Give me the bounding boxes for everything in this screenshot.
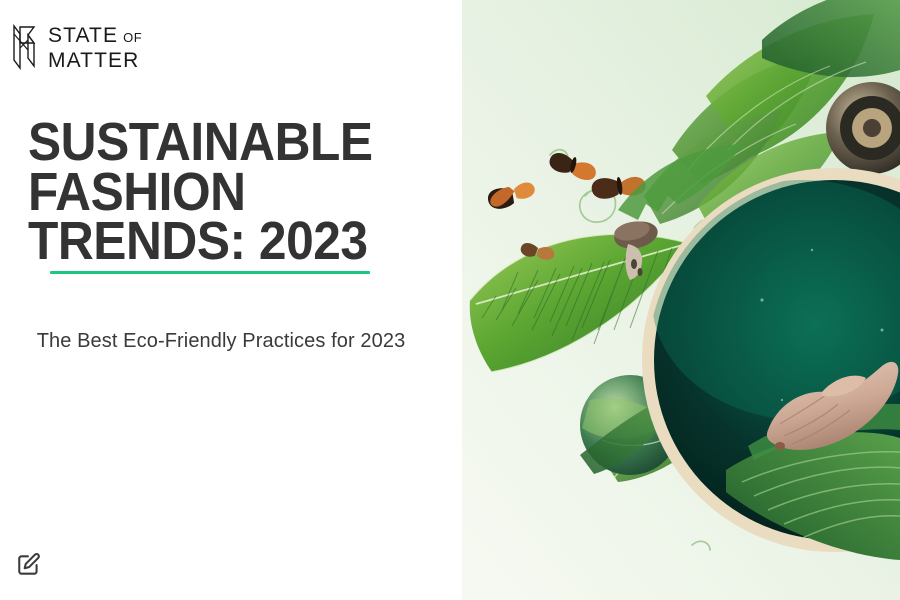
accent-divider — [50, 271, 370, 274]
brand-word-state: STATE — [48, 25, 118, 46]
state-of-matter-monogram-icon — [8, 22, 40, 74]
edit-button[interactable] — [14, 550, 44, 580]
brand-word-of: OF — [123, 31, 142, 44]
headline-line-2: FASHION — [28, 168, 396, 218]
content-panel: STATE OF MATTER SUSTAINABLE FASHION TREN… — [0, 0, 462, 600]
page-subtitle: The Best Eco-Friendly Practices for 2023 — [18, 326, 424, 357]
edit-pencil-square-icon — [16, 552, 42, 578]
hero-artwork — [462, 0, 900, 600]
brand-wordmark: STATE OF MATTER — [48, 25, 142, 71]
page-title: SUSTAINABLE FASHION TRENDS: 2023 — [28, 118, 428, 267]
headline-line-1: SUSTAINABLE — [28, 118, 396, 168]
poster-canvas: STATE OF MATTER SUSTAINABLE FASHION TREN… — [0, 0, 900, 600]
eco-collage-illustration — [462, 0, 900, 600]
brand-logo[interactable]: STATE OF MATTER — [8, 22, 142, 74]
brand-word-matter: MATTER — [48, 50, 142, 71]
headline-line-3: TRENDS: 2023 — [28, 217, 396, 267]
